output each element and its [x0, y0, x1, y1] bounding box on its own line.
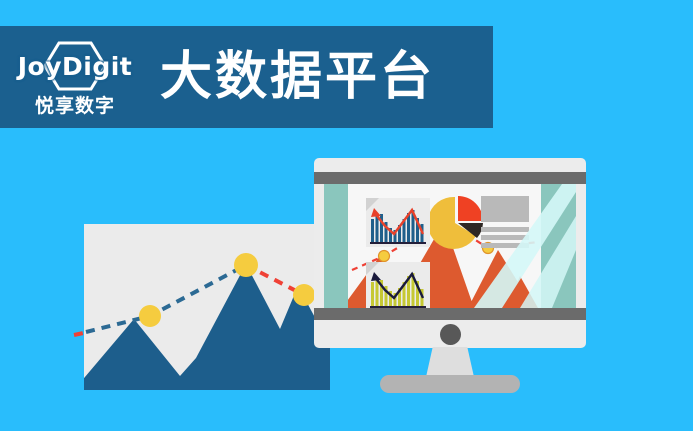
bar-chart-thumbnail-blue: [366, 198, 430, 247]
desktop-monitor: [314, 158, 586, 348]
monitor-bottom-bar: [314, 308, 586, 320]
bar-chart-thumbnail-olive: [366, 262, 430, 308]
logo-mark: JoyDigit: [17, 38, 133, 94]
logo-subtitle: 悦享数字: [35, 97, 115, 116]
olive-bars: [370, 268, 426, 308]
gray-block: [481, 235, 529, 240]
monitor-screen: [324, 184, 576, 308]
poster-canvas: JoyDigit 悦享数字 大数据平台: [0, 0, 693, 431]
gray-block: [481, 243, 529, 248]
screen-content: [348, 184, 541, 308]
monitor-base: [380, 375, 520, 393]
power-button-icon[interactable]: [440, 324, 461, 345]
monitor-neck: [426, 347, 474, 377]
trend-node: [379, 251, 390, 262]
text-block-placeholder: [481, 196, 529, 244]
left-mountain-shapes: [84, 224, 330, 390]
pie-chart: [428, 194, 486, 252]
brand-logo: JoyDigit 悦享数字: [14, 30, 136, 124]
page-title: 大数据平台: [160, 51, 435, 103]
gray-block: [481, 196, 529, 222]
blue-bars: [370, 204, 426, 244]
monitor-top-bar: [314, 172, 586, 184]
mountain-area-chart-panel: [84, 224, 330, 390]
logo-wordmark: JoyDigit: [18, 54, 133, 79]
gray-block: [481, 227, 529, 232]
header-banner: JoyDigit 悦享数字 大数据平台: [0, 26, 493, 128]
